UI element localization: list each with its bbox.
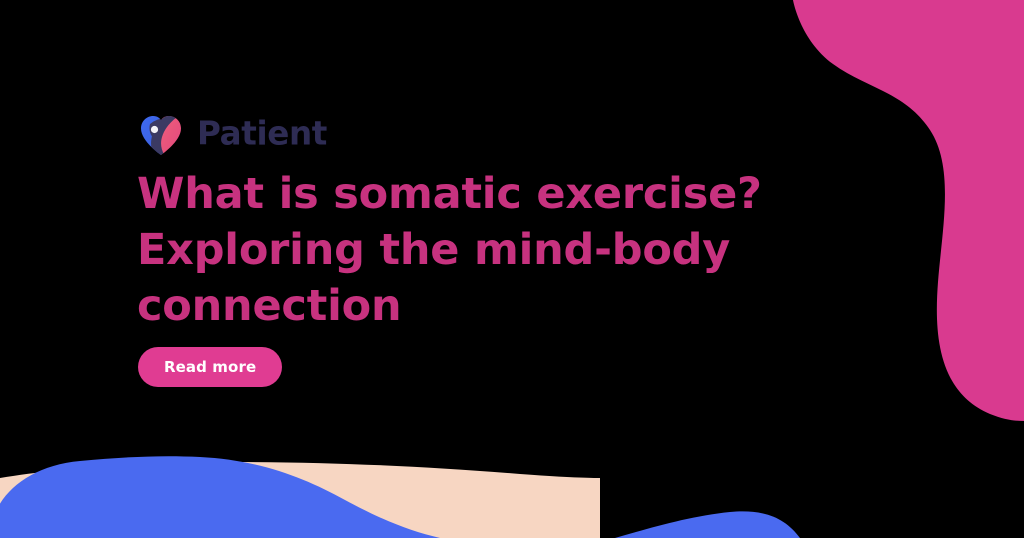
headline-line-1: What is somatic exercise?	[137, 166, 757, 222]
patient-wordmark: Patient	[197, 115, 419, 155]
peach-blob-bottom-left-shape	[0, 462, 600, 538]
pink-blob-top-right-shape	[793, 0, 1024, 421]
blue-blob-bottom-left-shape	[0, 456, 440, 538]
patient-heart-logo-icon	[137, 111, 185, 159]
patient-wordmark-text: Patient	[197, 115, 327, 153]
headline-line-3: connection	[137, 278, 757, 334]
blue-blob-bottom-right-shape	[615, 511, 800, 538]
brand-lockup[interactable]: Patient	[137, 108, 419, 162]
headline-line-2: Exploring the mind-body	[137, 222, 757, 278]
promo-card: Patient What is somatic exercise? Explor…	[0, 0, 1024, 538]
read-more-button[interactable]: Read more	[138, 347, 282, 387]
headline: What is somatic exercise? Exploring the …	[137, 166, 757, 334]
